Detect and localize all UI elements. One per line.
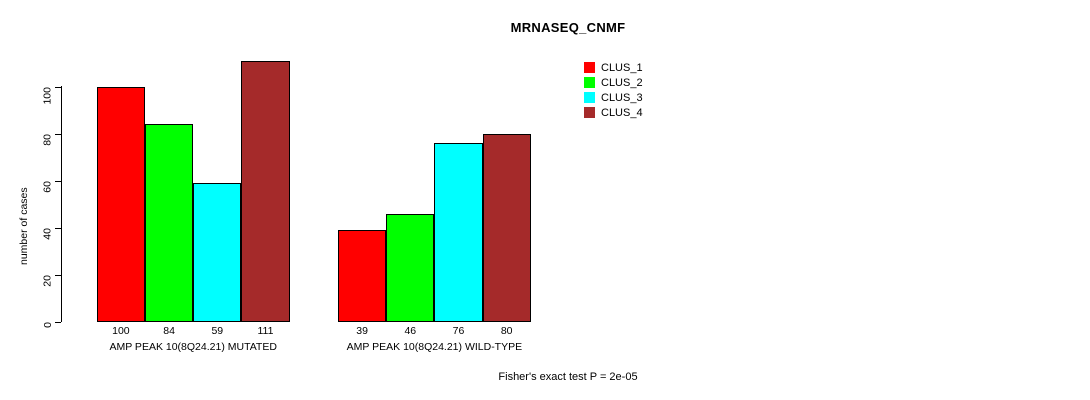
y-axis-tick-label: 0 bbox=[0, 322, 50, 323]
bar-clus_2-group2[interactable] bbox=[386, 214, 434, 322]
footnote-text: Fisher's exact test P = 2e-05 bbox=[498, 371, 637, 383]
y-axis-tick bbox=[55, 134, 61, 135]
y-axis-tick-label: 20 bbox=[0, 275, 50, 276]
y-axis-tick-label: 80 bbox=[0, 134, 50, 135]
bar-clus_3-group1[interactable] bbox=[193, 183, 241, 322]
bar-clus_3-group2[interactable] bbox=[434, 143, 482, 322]
bar-value-label: 59 bbox=[193, 325, 241, 337]
y-axis-line bbox=[61, 86, 62, 322]
bar-clus_4-group2[interactable] bbox=[483, 134, 531, 322]
legend-item[interactable]: CLUS_2 bbox=[584, 75, 643, 90]
bar-clus_2-group1[interactable] bbox=[145, 124, 193, 322]
legend-item[interactable]: CLUS_1 bbox=[584, 60, 643, 75]
legend-swatch-icon bbox=[584, 62, 595, 73]
legend-swatch-icon bbox=[584, 92, 595, 103]
y-axis-tick-label: 40 bbox=[0, 228, 50, 229]
legend-swatch-icon bbox=[584, 107, 595, 118]
bar-value-label: 111 bbox=[241, 325, 289, 337]
bar-clus_1-group1[interactable] bbox=[97, 87, 145, 323]
legend-label: CLUS_1 bbox=[601, 62, 643, 74]
y-axis-title: number of cases bbox=[18, 187, 30, 265]
bar-clus_4-group1[interactable] bbox=[241, 61, 289, 322]
bar-value-label: 100 bbox=[97, 325, 145, 337]
y-axis-tick bbox=[55, 181, 61, 182]
bar-value-label: 76 bbox=[434, 325, 482, 337]
bar-value-label: 84 bbox=[145, 325, 193, 337]
legend-label: CLUS_4 bbox=[601, 107, 643, 119]
bar-clus_1-group2[interactable] bbox=[338, 230, 386, 322]
footnote: Fisher's exact test P = 2e-05 bbox=[0, 371, 1090, 383]
legend-item[interactable]: CLUS_3 bbox=[584, 90, 643, 105]
y-axis-tick bbox=[55, 275, 61, 276]
y-axis-tick-label: 100 bbox=[0, 87, 50, 88]
y-axis-tick-label: 60 bbox=[0, 181, 50, 182]
legend-swatch-icon bbox=[584, 77, 595, 88]
legend: CLUS_1CLUS_2CLUS_3CLUS_4 bbox=[584, 60, 643, 120]
y-axis-tick bbox=[55, 87, 61, 88]
y-axis-tick bbox=[55, 228, 61, 229]
chart-canvas: MRNASEQ_CNMF number of cases 02040608010… bbox=[0, 0, 1090, 400]
y-axis-tick bbox=[55, 322, 61, 323]
bar-value-label: 80 bbox=[483, 325, 531, 337]
group-axis-label: AMP PEAK 10(8Q24.21) WILD-TYPE bbox=[278, 341, 591, 354]
bar-value-label: 39 bbox=[338, 325, 386, 337]
bar-value-label: 46 bbox=[386, 325, 434, 337]
legend-label: CLUS_2 bbox=[601, 77, 643, 89]
plot-area: number of cases 020406080100 10084591113… bbox=[0, 0, 1090, 400]
legend-item[interactable]: CLUS_4 bbox=[584, 105, 643, 120]
legend-label: CLUS_3 bbox=[601, 92, 643, 104]
